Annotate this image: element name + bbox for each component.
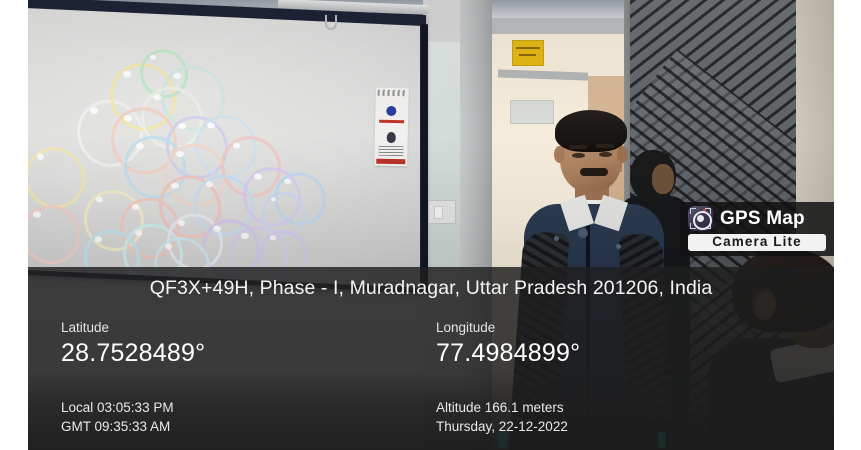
latitude-value: 28.7528489°: [61, 339, 421, 368]
longitude-field: Longitude 77.4984899°: [436, 321, 816, 368]
projection-screen-surface: [28, 8, 420, 288]
address-line: QF3X+49H, Phase - I, Muradnagar, Uttar P…: [28, 277, 834, 300]
photo-page: GPS Map Camera Lite QF3X+49H, Phase - I,…: [0, 0, 861, 450]
poster-footer-bar: [376, 159, 405, 165]
icon-lens-inner: [697, 215, 704, 222]
altitude-value: Altitude 166.1 meters: [436, 398, 816, 417]
person-hair: [555, 110, 627, 152]
local-time: Local 03:05:33 PM: [61, 398, 421, 417]
person-moustache: [580, 168, 608, 176]
poster-text-lines: [378, 146, 403, 157]
poster-portrait: [387, 132, 396, 143]
person-ear-right: [617, 146, 628, 163]
longitude-label: Longitude: [436, 321, 816, 336]
person-ear-left: [554, 146, 565, 163]
screen-hook: [325, 15, 337, 30]
bubble: [28, 146, 85, 210]
person-eye-left: [572, 153, 585, 158]
gmt-time: GMT 09:35:33 AM: [61, 417, 421, 436]
altitude-date-column: Altitude 166.1 meters Thursday, 22-12-20…: [436, 398, 816, 436]
poster-title-bar: [379, 120, 404, 124]
longitude-value: 77.4984899°: [436, 339, 816, 368]
screen-right-edge: [421, 24, 428, 292]
person-eyebrow-left: [569, 145, 587, 149]
capture-date: Thursday, 22-12-2022: [436, 417, 816, 436]
latitude-field: Latitude 28.7528489°: [61, 321, 421, 368]
door-sign: [512, 40, 544, 66]
time-column: Local 03:05:33 PM GMT 09:35:33 AM: [61, 398, 421, 436]
gps-camera-lens-icon: [688, 206, 713, 231]
watermark-subtitle: Camera Lite: [688, 234, 826, 252]
watermark-top-row: GPS Map: [688, 206, 826, 231]
door-lintel: [492, 18, 624, 34]
person-jacket-button-right: [616, 244, 621, 249]
poster-logo-icon: [386, 106, 396, 116]
watermark-title: GPS Map: [720, 209, 805, 228]
person-eyebrow-right: [596, 144, 614, 148]
bubble: [28, 204, 80, 266]
geotag-info-overlay: QF3X+49H, Phase - I, Muradnagar, Uttar P…: [28, 267, 834, 450]
person-jacket-button-left: [554, 236, 559, 241]
projection-screen: [28, 0, 426, 293]
geotagged-photo: GPS Map Camera Lite QF3X+49H, Phase - I,…: [28, 0, 834, 450]
light-switch-plate[interactable]: [428, 200, 456, 224]
door-transom: [498, 69, 588, 80]
wall-poster: [374, 88, 409, 167]
latitude-label: Latitude: [61, 321, 421, 336]
person-eye-right: [599, 152, 612, 157]
poster-header: [378, 90, 407, 97]
gps-map-camera-watermark: GPS Map Camera Lite: [680, 202, 834, 256]
person-zipper: [578, 228, 588, 238]
